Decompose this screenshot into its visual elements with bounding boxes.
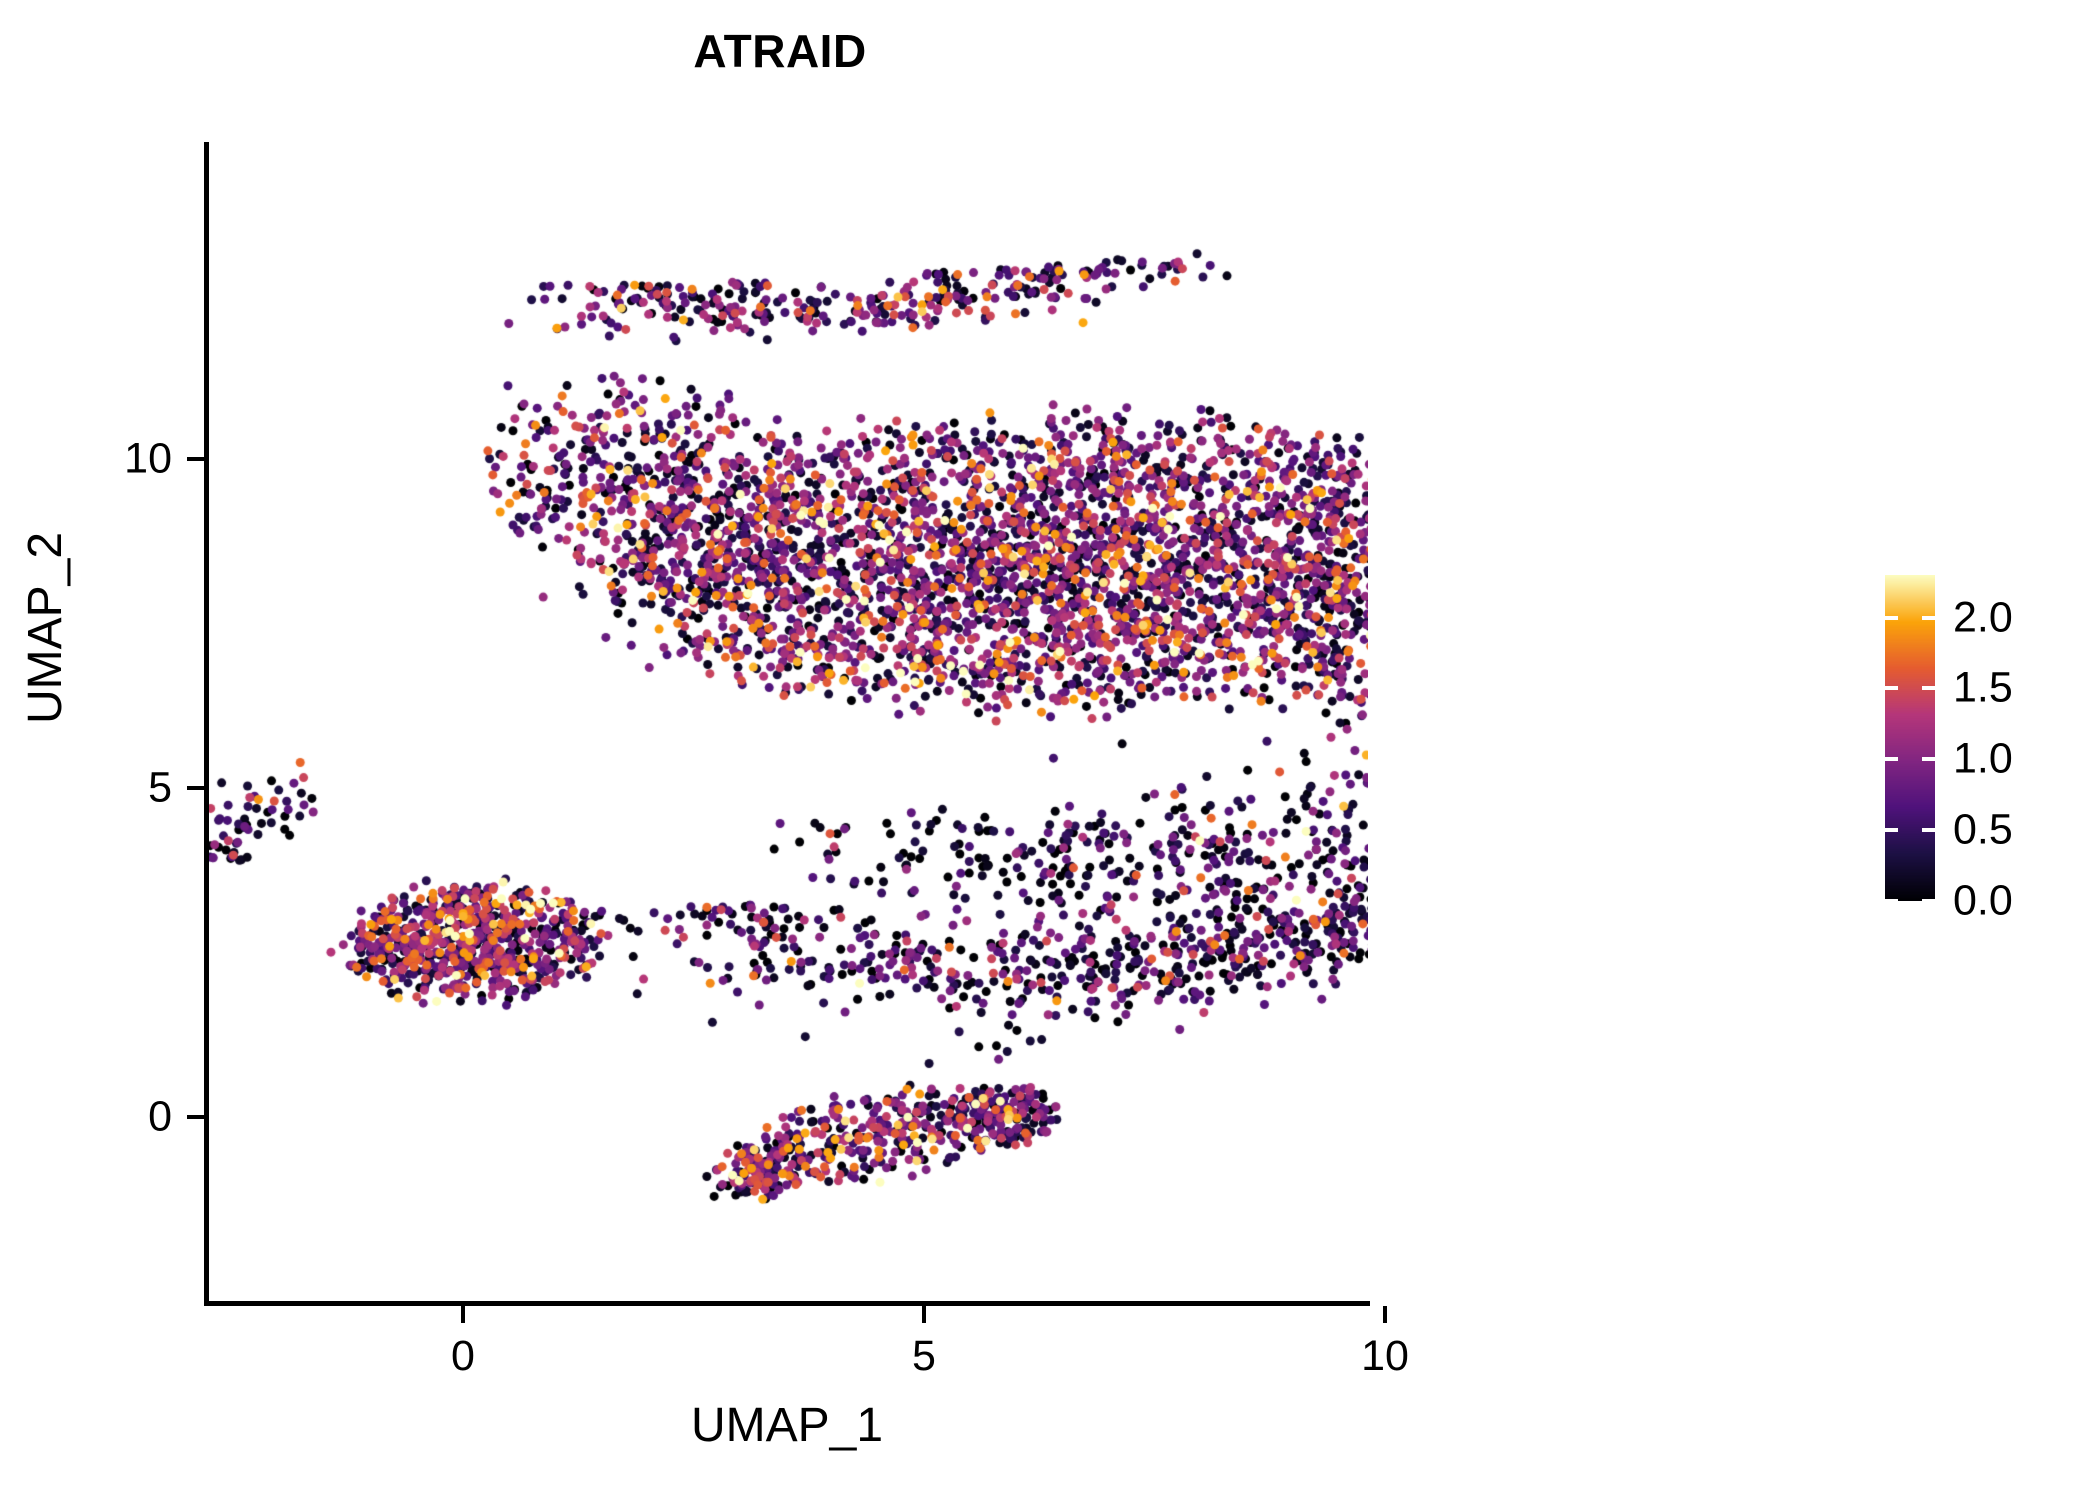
y-tick-mark-5 — [187, 786, 204, 790]
colorbar-tick-right — [1922, 899, 1935, 903]
colorbar-tick-right — [1922, 828, 1935, 832]
umap-feature-plot: ATRAID 0510 0510 UMAP_1 UMAP_2 0.00.51.0… — [0, 0, 2100, 1500]
colorbar-tick-left — [1885, 899, 1898, 903]
y-tick-mark-0 — [187, 1115, 204, 1119]
y-axis-label: UMAP_2 — [18, 532, 73, 724]
y-tick-label-0: 0 — [148, 1093, 172, 1142]
x-tick-label-5: 5 — [912, 1332, 936, 1381]
x-tick-mark-5 — [922, 1306, 926, 1323]
colorbar-label-0.0: 0.0 — [1953, 877, 2013, 926]
y-tick-label-10: 10 — [124, 435, 172, 484]
colorbar-tick-left — [1885, 616, 1898, 620]
colorbar-label-2.0: 2.0 — [1953, 593, 2013, 642]
page-title: ATRAID — [0, 24, 1560, 78]
x-axis-label: UMAP_1 — [204, 1398, 1370, 1453]
plot-panel — [205, 142, 1368, 1304]
scatter-points-layer — [205, 142, 1368, 1304]
x-tick-mark-0 — [461, 1306, 465, 1323]
x-axis-line — [204, 1301, 1370, 1306]
x-tick-mark-10 — [1383, 1306, 1387, 1323]
colorbar-gradient — [1885, 575, 1935, 901]
y-tick-mark-10 — [187, 457, 204, 461]
x-tick-label-0: 0 — [451, 1332, 475, 1381]
colorbar-label-0.5: 0.5 — [1953, 806, 2013, 855]
colorbar-tick-left — [1885, 686, 1898, 690]
y-tick-label-5: 5 — [148, 764, 172, 813]
colorbar-tick-right — [1922, 616, 1935, 620]
colorbar-tick-right — [1922, 686, 1935, 690]
colorbar-tick-right — [1922, 757, 1935, 761]
colorbar-label-1.0: 1.0 — [1953, 735, 2013, 784]
colorbar-tick-left — [1885, 757, 1898, 761]
color-legend: 0.00.51.01.52.0 — [1885, 575, 2085, 905]
colorbar-tick-left — [1885, 828, 1898, 832]
colorbar-label-1.5: 1.5 — [1953, 664, 2013, 713]
x-tick-label-10: 10 — [1361, 1332, 1409, 1381]
y-axis-line — [204, 142, 209, 1306]
